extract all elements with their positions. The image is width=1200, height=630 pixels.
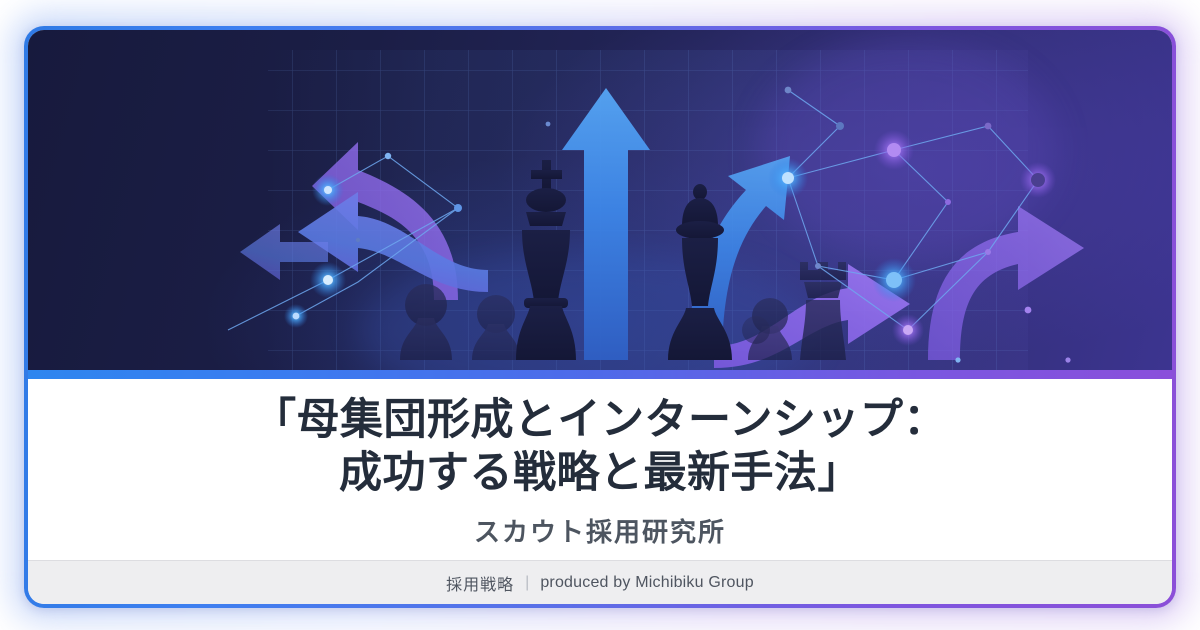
footer-category: 採用戦略 — [446, 571, 514, 595]
article-card: 「母集団形成とインターンシップ： 成功する戦略と最新手法」 スカウト採用研究所 … — [24, 26, 1176, 608]
chess-pawn — [742, 316, 770, 344]
hero-illustration — [28, 30, 1172, 370]
accent-divider-bar — [28, 370, 1172, 379]
card-inner: 「母集団形成とインターンシップ： 成功する戦略と最新手法」 スカウト採用研究所 … — [28, 30, 1172, 604]
text-block: 「母集団形成とインターンシップ： 成功する戦略と最新手法」 スカウト採用研究所 — [28, 379, 1172, 560]
page-title: 「母集団形成とインターンシップ： 成功する戦略と最新手法」 — [253, 394, 947, 499]
chess-rook — [800, 262, 846, 360]
footer-bar: 採用戦略 | produced by Michibiku Group — [28, 560, 1172, 604]
page-subtitle: スカウト採用研究所 — [474, 512, 726, 549]
footer-inner: 採用戦略 | produced by Michibiku Group — [446, 571, 754, 595]
footer-divider: | — [525, 574, 529, 592]
hero-banner — [28, 30, 1172, 370]
footer-credit: produced by Michibiku Group — [540, 574, 754, 592]
